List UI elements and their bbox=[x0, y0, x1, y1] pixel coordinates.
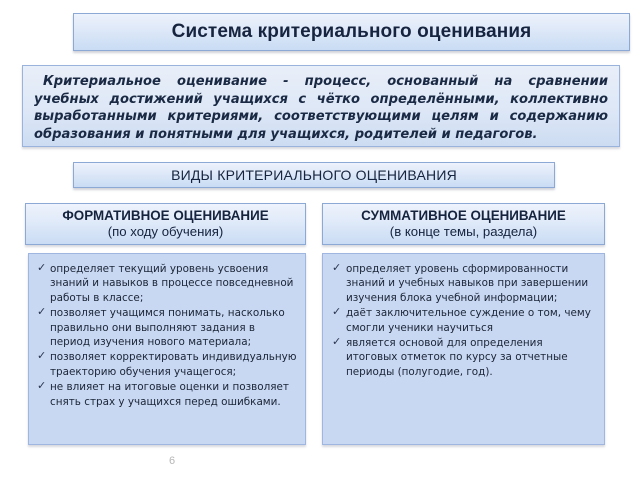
list-item: ✓ не влияет на итоговые оценки и позволя… bbox=[36, 380, 298, 409]
definition-text: Критериальное оценивание - процесс, осно… bbox=[34, 73, 608, 143]
formative-header-title: ФОРМАТИВНОЕ ОЦЕНИВАНИЕ bbox=[62, 208, 268, 224]
summative-bullet-box: ✓ определяет уровень сформированности зн… bbox=[322, 253, 605, 445]
list-item: ✓ определяет уровень сформированности зн… bbox=[330, 262, 597, 305]
list-item: ✓ позволяет учащимся понимать, насколько… bbox=[36, 306, 298, 349]
slide-title-text: Система критериального оценивания bbox=[172, 21, 532, 43]
check-icon: ✓ bbox=[37, 379, 46, 393]
list-item: ✓ позволяет корректировать индивидуальну… bbox=[36, 350, 298, 379]
page-number: 6 bbox=[162, 455, 182, 467]
slide-canvas: Система критериального оценивания Критер… bbox=[0, 0, 640, 480]
summative-header-title: СУММАТИВНОЕ ОЦЕНИВАНИЕ bbox=[361, 208, 566, 224]
check-icon: ✓ bbox=[37, 305, 46, 319]
list-item-text: даёт заключительное суждение о том, чему… bbox=[346, 307, 591, 333]
types-banner: ВИДЫ КРИТЕРИАЛЬНОГО ОЦЕНИВАНИЯ bbox=[73, 162, 555, 188]
list-item-text: определяет уровень сформированности знан… bbox=[346, 263, 588, 304]
list-item: ✓ является основой для определения итого… bbox=[330, 336, 597, 379]
slide-title-banner: Система критериального оценивания bbox=[73, 13, 630, 51]
formative-bullet-box: ✓ определяет текущий уровень усвоения зн… bbox=[28, 253, 306, 445]
list-item-text: определяет текущий уровень усвоения знан… bbox=[50, 263, 293, 304]
check-icon: ✓ bbox=[332, 261, 341, 275]
summative-header-subtitle: (в конце темы, раздела) bbox=[390, 224, 537, 240]
types-banner-text: ВИДЫ КРИТЕРИАЛЬНОГО ОЦЕНИВАНИЯ bbox=[171, 167, 457, 183]
definition-box: Критериальное оценивание - процесс, осно… bbox=[22, 65, 620, 147]
formative-bullet-list: ✓ определяет текущий уровень усвоения зн… bbox=[36, 262, 298, 409]
list-item-text: является основой для определения итоговы… bbox=[346, 337, 568, 378]
list-item-text: позволяет учащимся понимать, насколько п… bbox=[50, 307, 285, 348]
formative-header-subtitle: (по ходу обучения) bbox=[108, 224, 224, 240]
list-item-text: не влияет на итоговые оценки и позволяет… bbox=[50, 381, 289, 407]
list-item-text: позволяет корректировать индивидуальную … bbox=[50, 351, 297, 377]
check-icon: ✓ bbox=[37, 261, 46, 275]
check-icon: ✓ bbox=[332, 335, 341, 349]
formative-header-box: ФОРМАТИВНОЕ ОЦЕНИВАНИЕ (по ходу обучения… bbox=[25, 203, 306, 245]
summative-bullet-list: ✓ определяет уровень сформированности зн… bbox=[330, 262, 597, 379]
list-item: ✓ определяет текущий уровень усвоения зн… bbox=[36, 262, 298, 305]
check-icon: ✓ bbox=[332, 305, 341, 319]
list-item: ✓ даёт заключительное суждение о том, че… bbox=[330, 306, 597, 335]
summative-header-box: СУММАТИВНОЕ ОЦЕНИВАНИЕ (в конце темы, ра… bbox=[322, 203, 605, 245]
check-icon: ✓ bbox=[37, 349, 46, 363]
